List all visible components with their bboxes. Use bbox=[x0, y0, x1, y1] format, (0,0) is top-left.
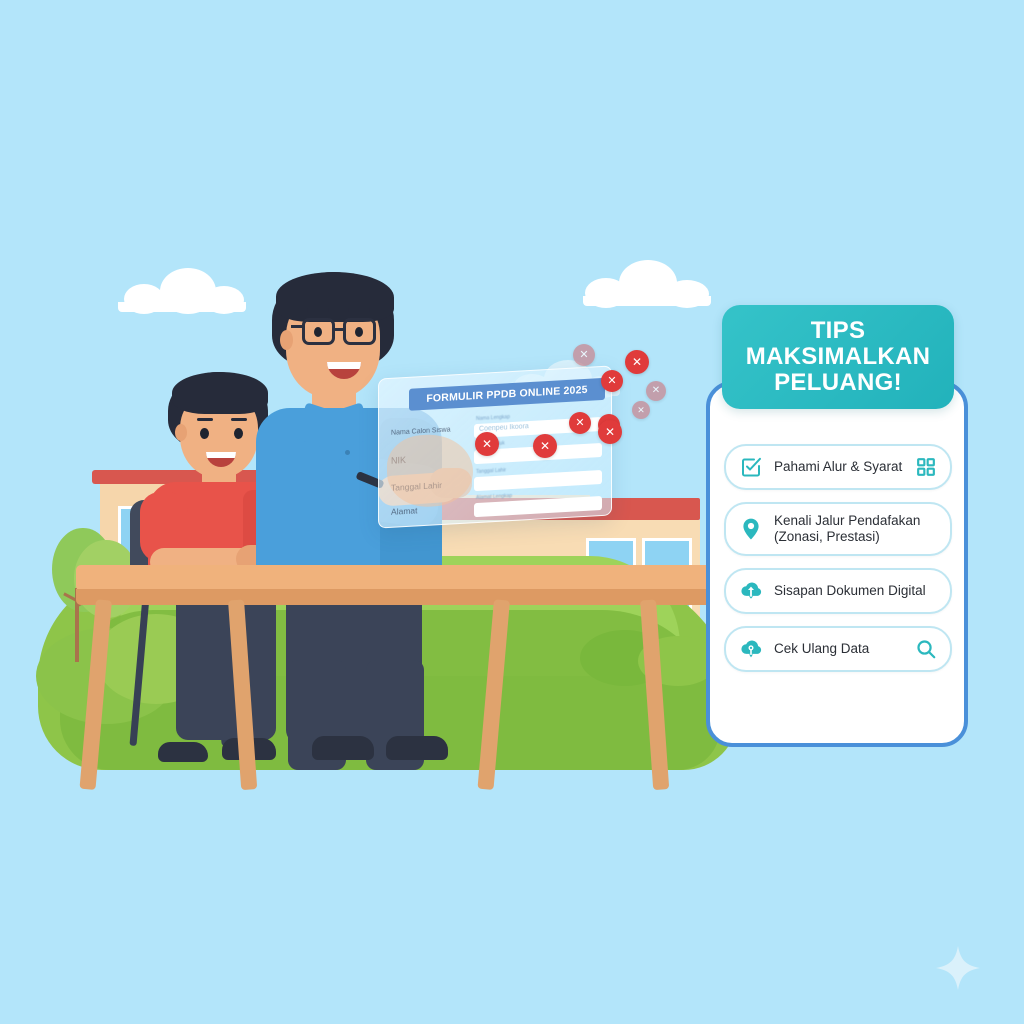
glasses-temple bbox=[291, 325, 303, 328]
table-top bbox=[76, 565, 716, 591]
error-badge[interactable]: ✕ bbox=[569, 412, 591, 434]
error-badge[interactable]: ✕ bbox=[646, 381, 666, 401]
form-sublabel-3: Tanggal Lahir bbox=[476, 467, 506, 475]
father-shoe bbox=[386, 736, 448, 760]
error-badge[interactable]: ✕ bbox=[475, 432, 499, 456]
grid-icon[interactable] bbox=[914, 455, 938, 479]
form-label-alamat: Alamat bbox=[391, 505, 417, 516]
tip-label: Kenali Jalur Pendafakan (Zonasi, Prestas… bbox=[774, 513, 938, 546]
error-badge[interactable]: ✕ bbox=[573, 344, 595, 366]
tip-label: Cek Ulang Data bbox=[774, 641, 908, 657]
child-brow-right bbox=[231, 418, 247, 421]
error-badge[interactable]: ✕ bbox=[598, 420, 622, 444]
tip-label: Pahami Alur & Syarat bbox=[774, 459, 908, 475]
hand-silhouette bbox=[387, 432, 473, 509]
tip-item-pahami-alur[interactable]: Pahami Alur & Syarat bbox=[724, 444, 952, 490]
tip-label-line-2: (Zonasi, Prestasi) bbox=[774, 529, 880, 544]
form-header: FORMULIR PPDB ONLINE 2025 bbox=[409, 378, 605, 411]
child-legs bbox=[176, 590, 276, 740]
father-shoe bbox=[312, 736, 374, 760]
father-brow-left bbox=[307, 308, 329, 312]
tip-label-line-1: Kenali Jalur Pendafakan bbox=[774, 513, 920, 528]
father-eye-left bbox=[314, 327, 322, 337]
tip-item-kenali-jalur[interactable]: Kenali Jalur Pendafakan (Zonasi, Prestas… bbox=[724, 502, 952, 556]
child-shoe bbox=[158, 742, 208, 762]
error-badge[interactable]: ✕ bbox=[625, 350, 649, 374]
error-badge[interactable]: ✕ bbox=[632, 401, 650, 419]
error-badge[interactable]: ✕ bbox=[533, 434, 557, 458]
form-title: FORMULIR PPDB ONLINE 2025 bbox=[426, 384, 587, 405]
cloud-upload-icon bbox=[738, 578, 764, 604]
tip-label: Sisapan Dokumen Digital bbox=[774, 583, 938, 599]
child-eye-right bbox=[234, 428, 243, 439]
tips-list: Pahami Alur & Syarat Kenali Jalur Penda bbox=[724, 444, 952, 684]
tips-banner-line-2: MAKSIMALKAN bbox=[746, 344, 931, 370]
tip-item-siapkan-dokumen[interactable]: Sisapan Dokumen Digital bbox=[724, 568, 952, 614]
father-fringe bbox=[276, 272, 394, 322]
map-pin-icon bbox=[738, 516, 764, 542]
tips-banner-line-1: TIPS bbox=[811, 318, 866, 344]
cloud-check-icon bbox=[738, 636, 764, 662]
tips-banner-line-3: PELUANG! bbox=[774, 370, 902, 396]
tip-item-cek-ulang[interactable]: Cek Ulang Data bbox=[724, 626, 952, 672]
cloud-left bbox=[118, 268, 248, 310]
father-ear bbox=[280, 330, 293, 350]
child-fringe bbox=[172, 372, 268, 414]
child-eye-left bbox=[200, 428, 209, 439]
sparkle-star-icon bbox=[935, 945, 981, 991]
cloud-right bbox=[583, 260, 713, 302]
checklist-icon bbox=[738, 454, 764, 480]
child-ear bbox=[175, 424, 187, 441]
poster-canvas: FORMULIR PPDB ONLINE 2025 Nama Calon Sis… bbox=[0, 0, 1024, 1024]
child-brow-left bbox=[197, 418, 213, 421]
form-sublabel-4: Alamat Lengkap bbox=[476, 493, 512, 501]
form-sublabel-1: Nama Lengkap bbox=[476, 414, 510, 422]
father-brow-right bbox=[348, 308, 370, 312]
table-top-edge bbox=[76, 589, 716, 605]
glasses-bridge bbox=[335, 328, 344, 331]
search-icon[interactable] bbox=[914, 637, 938, 661]
tips-banner: TIPS MAKSIMALKAN PELUANG! bbox=[722, 305, 954, 409]
error-badge[interactable]: ✕ bbox=[601, 370, 623, 392]
father-eye-right bbox=[355, 327, 363, 337]
